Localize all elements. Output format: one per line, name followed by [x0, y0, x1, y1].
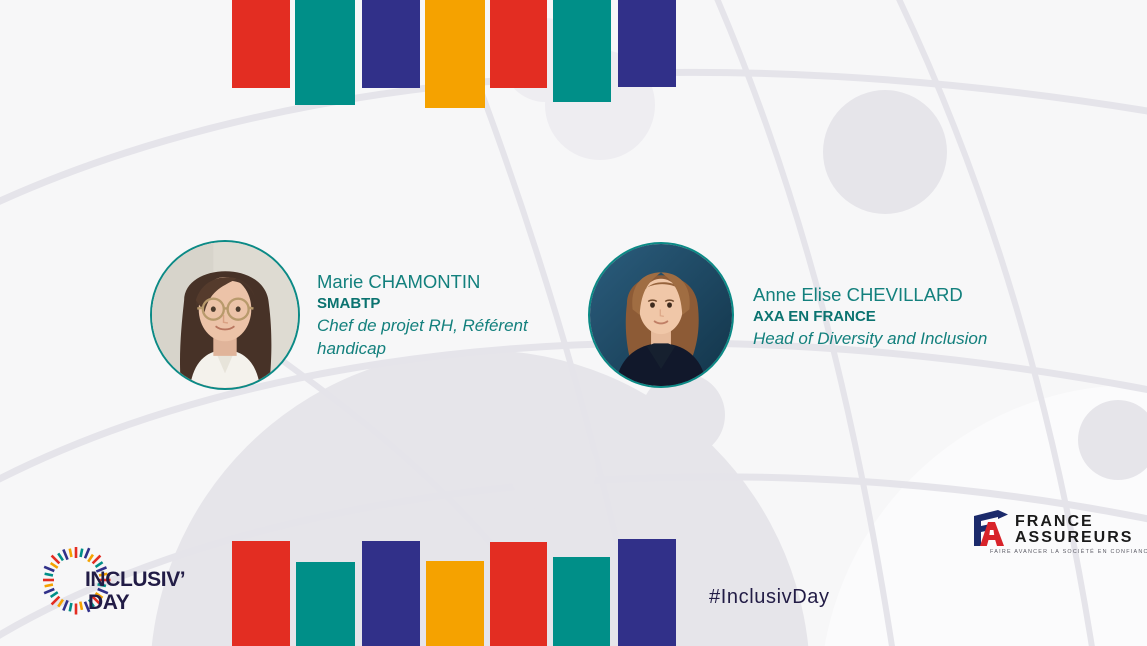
speaker-card-marie-chamontin: Marie CHAMONTIN SMABTP Chef de projet RH… [150, 240, 547, 390]
top-bar-3 [425, 0, 485, 108]
logo-ray [51, 592, 58, 597]
fa-word-assureurs: ASSUREURS [1015, 529, 1133, 546]
top-bar-4 [490, 0, 547, 88]
logo-ray [63, 600, 67, 610]
logo-ray [45, 574, 53, 576]
avatar [588, 242, 734, 388]
avatar [150, 240, 300, 390]
logo-ray [81, 549, 83, 557]
logo-ray [93, 556, 101, 564]
logo-ray [52, 556, 60, 564]
inclusiv-day-logo: INCLUSIV’ DAY [30, 530, 202, 630]
logo-ray [45, 585, 53, 587]
logo-ray [70, 603, 72, 611]
bottom-bar-5 [553, 557, 610, 646]
top-bar-0 [232, 0, 290, 88]
logo-text-line2: DAY [88, 591, 130, 614]
top-bar-6 [618, 0, 676, 87]
bottom-bar-3 [426, 561, 484, 646]
fa-tagline: FAIRE AVANCER LA SOCIÉTÉ EN CONFIANCE [990, 548, 1147, 555]
bottom-bar-1 [296, 562, 355, 646]
logo-ray [44, 589, 54, 593]
logo-ray [85, 548, 89, 558]
decor-dot-3 [510, 427, 596, 513]
logo-ray [88, 555, 93, 562]
decor-dot-4 [1078, 400, 1147, 480]
logo-ray [96, 562, 103, 567]
france-assureurs-logo: FRANCE ASSUREURS FAIRE AVANCER LA SOCIÉT… [968, 508, 1147, 558]
bottom-bar-0 [232, 541, 290, 646]
logo-ray [80, 602, 82, 610]
hashtag-label: #InclusivDay [709, 586, 830, 609]
avatar-photo-anne-elise [590, 244, 732, 386]
logo-ray [44, 567, 54, 571]
fa-mark-icon [974, 510, 1008, 546]
bottom-bar-2 [362, 541, 420, 646]
logo-ray [58, 553, 63, 560]
fa-word-france: FRANCE [1015, 513, 1094, 530]
logo-ray [58, 600, 63, 607]
speaker-organisation: AXA EN FRANCE [753, 306, 987, 327]
speaker-info: Marie CHAMONTIN SMABTP Chef de projet RH… [317, 270, 547, 360]
decor-dot-1 [823, 90, 947, 214]
speaker-info: Anne Elise CHEVILLARD AXA EN FRANCE Head… [753, 283, 987, 350]
logo-text-line1: INCLUSIV’ [85, 568, 185, 591]
top-bar-2 [362, 0, 420, 88]
speaker-organisation: SMABTP [317, 293, 547, 314]
speaker-card-anne-elise-chevillard: Anne Elise CHEVILLARD AXA EN FRANCE Head… [588, 242, 987, 388]
slide-root: Marie CHAMONTIN SMABTP Chef de projet RH… [0, 0, 1147, 646]
bottom-bar-6 [618, 539, 676, 646]
speaker-name: Marie CHAMONTIN [317, 270, 547, 293]
logo-ray [63, 550, 67, 560]
top-bar-1 [295, 0, 355, 105]
bottom-bar-4 [490, 542, 547, 646]
logo-ray [52, 597, 60, 605]
speaker-role: Chef de projet RH, Référent handicap [317, 314, 547, 360]
logo-ray [51, 563, 58, 568]
top-bar-5 [553, 0, 611, 102]
speaker-name: Anne Elise CHEVILLARD [753, 283, 987, 306]
logo-ray [70, 549, 72, 557]
avatar-photo-marie [152, 242, 298, 388]
speaker-role: Head of Diversity and Inclusion [753, 327, 987, 350]
